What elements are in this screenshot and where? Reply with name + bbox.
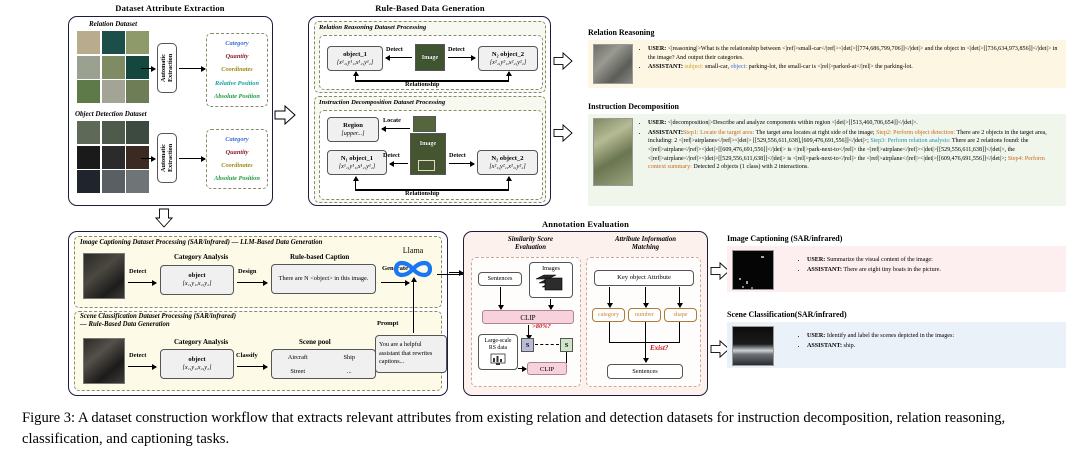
detect-label-right: Detect: [448, 46, 465, 53]
user-text-4: Identify and label the scenes depicted i…: [827, 333, 954, 339]
attr-coordinates: Coordinates: [221, 66, 253, 73]
thumb: [102, 146, 125, 169]
key-attribute-label: Key object Attribute: [617, 274, 671, 282]
arrow-to-extractor-2: [141, 158, 155, 159]
captioning-object-coords: [x₁,y₁,x₂,y₂]: [182, 280, 211, 288]
region-title: Region: [343, 122, 363, 130]
subject-tag: subject:: [685, 64, 704, 70]
scene-classification-thumbnail: [732, 326, 774, 366]
scene-subtitle-l1: Scene Classification Dataset Processing …: [80, 313, 236, 321]
detect-arrow-captioning: [128, 282, 156, 283]
score-compare-link: [535, 344, 559, 345]
instruction-decomposition-output-card: USER: <|decomposition|>Describe and anal…: [588, 114, 1066, 206]
automatic-extraction-relation: Automatic Extraction: [157, 43, 177, 93]
user-label-4: USER:: [807, 333, 825, 339]
n1-object1-coords: [x¹₁,y¹₁,x¹₂,y¹₂]: [339, 163, 375, 171]
image-label-2: Image: [420, 140, 437, 147]
category-analysis-label-2: Category Analysis: [174, 338, 228, 346]
n1-object1-node: N₁ object_1 [x¹₁,y¹₁,x¹₂,y¹₂]: [327, 150, 387, 175]
decompose-detect-label-left: Detect: [383, 152, 400, 159]
object-detection-dataset-label: Object Detection Dataset: [75, 110, 147, 118]
region-node: Region [upper...]: [327, 117, 379, 142]
similarity-subtitle-l1: Similarity Score: [478, 236, 583, 244]
key-attribute-node: Key object Attribute: [594, 270, 694, 286]
thumb: [77, 170, 100, 193]
n2-object2-coords: [x²₁,y²₁,x²₂,y²₂]: [489, 163, 525, 171]
n2-object2-node: N₂ object_2 [x²₁,y²₁,x²₂,y²₂]: [477, 150, 538, 175]
attr-arrow-2: [645, 287, 646, 307]
step2-label: Step2: Perform object detection:: [876, 130, 955, 136]
image-label: Image: [422, 54, 439, 61]
locate-arrow: [382, 128, 410, 129]
prompt-text: You are a helpful assistant that rewrite…: [379, 341, 443, 368]
stage1-to-stage2-arrow: [274, 105, 296, 125]
attribute-shape-label: shape: [673, 311, 687, 319]
stage1-panel: Relation Dataset Automatic Extraction Ca…: [68, 16, 273, 206]
automatic-extraction-label-2: Automatic Extraction: [160, 134, 174, 182]
attr-quantity: Quantity: [226, 53, 249, 60]
captioning-assistant-line: ASSISTANT: There are eight tiny boats in…: [807, 266, 941, 275]
locate-label: Locate: [383, 117, 401, 124]
stage2-title: Rule-Based Data Generation: [310, 3, 550, 13]
boat-dot: [746, 281, 748, 284]
object-tag: object:: [731, 64, 748, 70]
automatic-extraction-label: Automatic Extraction: [160, 44, 174, 92]
rs-data-l2: RS data: [489, 345, 507, 352]
relation-reasoning-output-card: USER: <|reasoning|>What is the relations…: [588, 40, 1066, 88]
matching-subtitle-l2: Matching: [588, 244, 703, 252]
step3-label: Step3: Perform relation analysis:: [870, 138, 950, 144]
matching-sentences-label: Sentences: [632, 368, 658, 376]
decompose-relationship-label: Relationship: [405, 190, 439, 197]
attr-down-3: [679, 322, 680, 343]
captioning-thumbnail: [83, 253, 125, 299]
instruction-decomposition-thumbnail: [593, 118, 633, 186]
stage2-to-decomposition-output-arrow: [553, 124, 573, 142]
thumb: [77, 121, 100, 144]
assistant-text: parking-lot, the small-car is <|rel|>par…: [747, 64, 913, 70]
scene-assistant-line: ASSISTANT: ship.: [807, 342, 954, 351]
user-label-3: USER:: [807, 257, 825, 263]
thumb: [126, 80, 149, 103]
user-text: <|reasoning|>What is the relationship be…: [648, 46, 1057, 61]
thumb: [102, 170, 125, 193]
llama-model-name: Llama: [389, 246, 437, 255]
attribute-number-label: number: [635, 311, 654, 319]
attr-relative-position: Relative Position: [215, 80, 259, 87]
scene-classification-output-card: USER: Identify and label the scenes depi…: [727, 322, 1066, 368]
design-label: Design: [238, 268, 256, 275]
scene-subtitle: Scene Classification Dataset Processing …: [80, 313, 236, 329]
clip-bottom-node: CLIP: [527, 362, 567, 375]
scene-user-line: USER: Identify and label the scenes depi…: [807, 332, 954, 341]
thumb: [126, 146, 149, 169]
user-label-2: USER:: [648, 120, 666, 126]
decomposition-user-line: USER: <|decomposition|>Describe and anal…: [648, 119, 1061, 128]
exist-arrow: [645, 343, 646, 362]
detect-label-scene: Detect: [129, 352, 146, 359]
step4-text: Detected 2 objects (1 class) with 2 inte…: [692, 164, 809, 170]
similarity-subtitle-l2: Evaluation: [478, 244, 583, 252]
attr-category: Category: [225, 40, 248, 47]
decompose-detect-arrow-right: [449, 163, 474, 164]
object1-coords: [x¹₁,y¹₁,x¹₂,y¹₂]: [337, 59, 373, 67]
thumb: [102, 121, 125, 144]
images-to-clip-arrow: [550, 299, 551, 309]
image-captioning-thumbnail: [732, 250, 774, 290]
step1-text: The target area locates at right side of…: [754, 130, 876, 136]
matching-subtitle-l1: Attribute Information: [588, 236, 703, 244]
thumb: [77, 56, 100, 79]
instruction-decomposition-inner: Region [upper...] Locate Image N₁ object…: [319, 110, 543, 200]
n1-object1-title: N₁ object_1: [341, 155, 373, 163]
attribute-category-node: category: [592, 308, 625, 322]
attr-down-1: [609, 322, 610, 343]
figure-caption: Figure 3: A dataset construction workflo…: [22, 408, 1062, 449]
prompt-node: You are a helpful assistant that rewrite…: [375, 335, 447, 373]
relation-reasoning-inner: object_1 [x¹₁,y¹₁,x¹₂,y¹₂] Image N₂ obje…: [319, 35, 543, 90]
clip-bottom-label: CLIP: [540, 366, 554, 373]
relation-reasoning-subtitle: Relation Reasoning Dataset Processing: [319, 24, 426, 31]
database-chart-icon: [490, 353, 506, 366]
attribute-category-label: category: [598, 311, 619, 319]
rs-to-clip-arrow: [518, 368, 526, 369]
captioning-object-title: object: [188, 272, 205, 280]
relation-attributes-box: Category Quantity Coordinates Relative P…: [206, 33, 268, 107]
n2-object2-title: N₂ object_2: [491, 155, 523, 163]
region-value: [upper...]: [341, 130, 364, 138]
captioning-user-line: USER: Summarize the visual content of th…: [807, 256, 941, 265]
threshold-label: >80%?: [532, 323, 551, 330]
object1-title: object_1: [343, 51, 367, 59]
detect-label-left: Detect: [386, 46, 403, 53]
attr-quantity-2: Quantity: [226, 149, 249, 156]
region-crop-thumbnail: [413, 116, 436, 132]
detect-arrow-scene: [128, 366, 156, 367]
captioning-processing-box: Image Captioning Dataset Processing (SAR…: [74, 236, 442, 308]
decompose-detect-arrow-left: [390, 163, 408, 164]
attr-arrow-1: [609, 287, 610, 307]
score-left-node: S: [521, 338, 534, 352]
matching-box: Key object Attribute category number sha…: [586, 257, 701, 387]
relationship-arrow-right: [508, 72, 509, 81]
clip-top-node: CLIP: [482, 310, 574, 324]
detection-dataset-thumbnails: [77, 121, 149, 193]
assistant-mid: small-car,: [704, 64, 731, 70]
boat-dot: [761, 256, 764, 258]
rule-caption-node: There are N <object> in this image.: [271, 264, 376, 294]
scene-object-node: object [x₁,y₁,x₂,y₂]: [160, 349, 234, 379]
figure-root: Dataset Attribute Extraction Relation Da…: [0, 0, 1080, 466]
object2-coords: [x²₁,y²₁,x²₂,y²₂]: [490, 59, 526, 67]
thumb: [77, 146, 100, 169]
thumb: [102, 56, 125, 79]
scene-object-title: object: [188, 356, 205, 364]
attr-category-2: Category: [225, 136, 248, 143]
classify-label: Classify: [236, 352, 258, 359]
clip-to-score-right-line: [566, 352, 567, 363]
scene-pool-item-more: ...: [347, 368, 352, 375]
prompt-label: Prompt: [377, 320, 399, 327]
scene-thumbnail: [83, 338, 125, 384]
relation-source-image: Image: [415, 44, 445, 71]
similarity-box: Sentences Images CLIP >80%?: [471, 257, 581, 387]
prompt-arrow: [413, 278, 414, 333]
decomposition-assistant-line: ASSISTANT:Step1: Locate the target area:…: [648, 129, 1061, 172]
arrow-to-extractor-1: [141, 68, 155, 69]
image-captioning-output-card: USER: Summarize the visual content of th…: [727, 246, 1066, 292]
detection-attributes-box: Category Quantity Coordinates Absolute P…: [206, 129, 268, 189]
sentences-node: Sentences: [478, 272, 522, 286]
relation-reasoning-thumbnail: [593, 44, 633, 84]
instruction-decomposition-processing: Instruction Decomposition Dataset Proces…: [314, 96, 546, 203]
detect-label-captioning: Detect: [129, 268, 146, 275]
score-right-node: S: [560, 338, 573, 352]
thumb: [102, 80, 125, 103]
captioning-object-node: object [x₁,y₁,x₂,y₂]: [160, 265, 234, 295]
relationship-label: Relationship: [405, 81, 439, 88]
score-left-label: S: [526, 342, 530, 349]
stage2-panel: Relation Reasoning Dataset Processing ob…: [308, 16, 551, 206]
sentences-to-clip-arrow: [500, 287, 501, 309]
clip-top-label: CLIP: [520, 314, 535, 322]
user-text-2: <|decomposition|>Describe and analyze co…: [668, 120, 918, 126]
decompose-relationship-arrow-left: [355, 177, 356, 190]
thumb: [126, 170, 149, 193]
attr-arrow-3: [679, 287, 680, 307]
instruction-decomposition-output-title: Instruction Decomposition: [588, 102, 679, 111]
instruction-decomposition-subtitle: Instruction Decomposition Dataset Proces…: [319, 99, 445, 106]
thumb: [77, 80, 100, 103]
classify-arrow: [237, 366, 267, 367]
relation-assistant-line: ASSISTANT: subject: small-car, object: p…: [648, 63, 1061, 72]
arrow-from-extractor-2: [179, 158, 205, 159]
automatic-extraction-detection: Automatic Extraction: [157, 133, 177, 183]
rs-data-l1: Large-scale: [485, 338, 512, 345]
stacked-images-icon: [534, 274, 568, 292]
arrow-from-extractor-1: [179, 68, 205, 69]
image-captioning-output-title: Image Captioning (SAR/infrared): [727, 234, 842, 243]
clip-to-score-arrow: [528, 325, 529, 339]
stage1-title: Dataset Attribute Extraction: [70, 3, 270, 13]
boat-dot: [742, 286, 744, 288]
stage3-to-stage4-arrow: [449, 272, 463, 273]
thumb: [126, 31, 149, 54]
object1-node: object_1 [x¹₁,y¹₁,x¹₂,y¹₂]: [327, 46, 383, 71]
assistant-text-4: ship.: [844, 343, 856, 349]
sentences-label: Sentences: [488, 275, 513, 283]
stage4-panel: Similarity Score Evaluation Sentences Im…: [463, 231, 708, 396]
scene-object-coords: [x₁,y₁,x₂,y₂]: [182, 364, 211, 372]
thumb: [126, 121, 149, 144]
scene-pool-item-aircraft: Aircraft: [288, 354, 308, 361]
scene-pool-label: Scene pool: [299, 338, 331, 346]
attribute-number-node: number: [628, 308, 661, 322]
rule-caption-label: Rule-based Caption: [290, 253, 349, 261]
exist-label: Exist?: [650, 344, 668, 352]
assistant-label-2: ASSISTANT:: [648, 130, 683, 136]
scene-pool-node: Aircraft Ship Street ...: [271, 349, 376, 379]
object2-node: N₂ object_2 [x²₁,y²₁,x²₂,y²₂]: [478, 46, 538, 71]
attr-down-2: [645, 322, 646, 343]
attribute-shape-node: shape: [664, 308, 697, 322]
decompose-detect-label-right: Detect: [449, 152, 466, 159]
user-text-3: Summarize the visual content of the imag…: [827, 257, 933, 263]
scene-classification-output-title: Scene Classification(SAR/infrared): [727, 310, 847, 319]
assistant-label: ASSISTANT:: [648, 64, 683, 70]
boat-dot: [751, 287, 753, 289]
detect-arrow-right: [448, 57, 475, 58]
captioning-subtitle-main: Image Captioning Dataset Processing (SAR…: [80, 239, 230, 246]
scene-pool-item-street: Street: [290, 368, 305, 375]
stage2-to-relation-output-arrow: [553, 52, 573, 70]
rs-data-node: Large-scale RS data: [478, 334, 518, 370]
similarity-subtitle: Similarity Score Evaluation: [478, 236, 583, 252]
rule-caption-text: There are N <object> in this image.: [279, 275, 369, 283]
assistant-label-4: ASSISTANT:: [807, 343, 842, 349]
design-arrow: [237, 282, 267, 283]
relation-dataset-label: Relation Dataset: [89, 20, 137, 28]
detect-arrow-left: [386, 57, 412, 58]
images-node: Images: [529, 262, 573, 298]
step1-label: Step1: Locate the target area:: [683, 130, 754, 136]
thumb: [126, 56, 149, 79]
score-right-label: S: [565, 342, 569, 349]
attr-absolute-position: Absolute Position: [214, 93, 260, 100]
scene-pool-item-ship: Ship: [343, 354, 355, 361]
relation-reasoning-processing: Relation Reasoning Dataset Processing ob…: [314, 21, 546, 93]
relationship-arrow-left: [355, 72, 356, 81]
attr-absolute-position-2: Absolute Position: [214, 175, 260, 182]
captioning-subtitle: Image Captioning Dataset Processing (SAR…: [80, 239, 322, 246]
attr-coordinates-2: Coordinates: [221, 162, 253, 169]
image-bbox-overlay: [418, 160, 435, 171]
stage4-title: Annotation Evaluation: [463, 219, 708, 229]
object2-title: N₂ object_2: [492, 51, 524, 59]
matching-subtitle: Attribute Information Matching: [588, 236, 703, 252]
relation-reasoning-output-title: Relation Reasoning: [588, 28, 654, 37]
relation-dataset-thumbnails: [77, 31, 149, 103]
images-label: Images: [542, 265, 560, 273]
user-label: USER:: [648, 46, 666, 52]
matching-sentences-node: Sentences: [607, 364, 683, 379]
captioning-subtitle-tail: — LLM-Based Data Generation: [232, 239, 323, 246]
decompose-relationship-arrow-right: [508, 177, 509, 190]
stage1-to-stage3-arrow: [155, 208, 173, 228]
scene-subtitle-l2: — Rule-Based Data Generation: [80, 321, 236, 329]
stage3-panel: Image Captioning Dataset Processing (SAR…: [68, 231, 448, 396]
thumb: [102, 31, 125, 54]
thumb: [77, 31, 100, 54]
assistant-label-3: ASSISTANT:: [807, 267, 842, 273]
category-analysis-label-1: Category Analysis: [174, 253, 228, 261]
relation-user-line: USER: <|reasoning|>What is the relations…: [648, 45, 1061, 62]
boat-dot: [739, 278, 741, 280]
assistant-text-3: There are eight tiny boats in the pictur…: [843, 267, 940, 273]
